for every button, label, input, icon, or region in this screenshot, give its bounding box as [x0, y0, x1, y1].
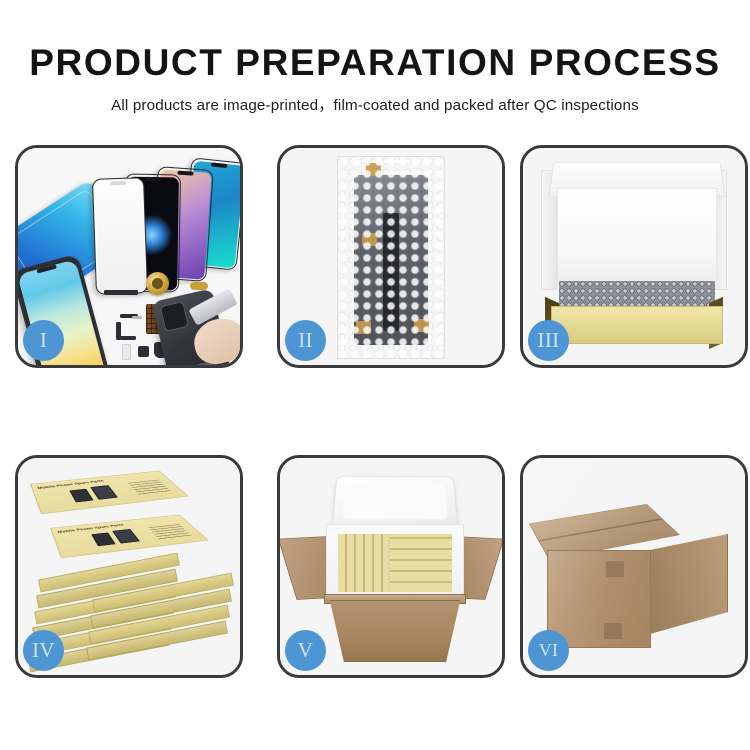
step-badge-5: V — [285, 630, 326, 671]
box-window-b-front — [112, 529, 140, 544]
step-badge-2: II — [285, 320, 326, 361]
process-step-5: V — [277, 455, 505, 678]
packed-boxes-horizontal — [390, 534, 452, 592]
tape-tab-bottom-left — [356, 321, 371, 334]
step-5-image: V — [280, 458, 502, 675]
part-strip — [104, 290, 138, 295]
part-sim-tray — [122, 344, 131, 360]
step-3-image: III — [523, 148, 745, 365]
retail-box-top-back: Mobile Phone Spare Parts — [30, 471, 189, 515]
box-spec-text-top — [127, 478, 171, 494]
tape-tab-middle — [362, 233, 377, 246]
page-subtitle: All products are image-printed，film-coat… — [0, 93, 750, 115]
packed-boxes-area — [338, 534, 452, 592]
carton-front-panel — [324, 600, 466, 662]
carton-tape-upper — [606, 561, 624, 577]
part-gold-clip — [190, 282, 208, 290]
white-foam-sheet — [557, 188, 717, 286]
box-window-a-front — [91, 533, 115, 547]
styrofoam-lid — [331, 476, 458, 528]
box-spec-text-front — [147, 523, 191, 539]
step-1-image: I — [18, 148, 240, 365]
process-step-3: III — [520, 145, 748, 368]
carton-side-face — [650, 534, 728, 634]
carton-tape-lower — [604, 623, 622, 639]
grey-bubble-pad — [559, 281, 715, 308]
step-badge-6: VI — [528, 630, 569, 671]
process-step-1: I — [15, 145, 243, 368]
part-flex-c — [120, 336, 136, 340]
part-bracket — [132, 316, 142, 319]
speaker-coil — [146, 272, 169, 295]
process-step-2: II — [277, 145, 505, 368]
box-window-a-top — [69, 489, 93, 503]
product-preparation-infographic: PRODUCT PREPARATION PROCESS All products… — [0, 0, 750, 750]
process-step-6: VI — [520, 455, 748, 678]
tape-tab-top — [366, 163, 381, 176]
step-badge-3: III — [528, 320, 569, 361]
page-title: PRODUCT PREPARATION PROCESS — [0, 42, 750, 84]
retail-box-top-front: Mobile Phone Spare Parts — [50, 515, 209, 559]
packed-boxes-vertical — [338, 534, 388, 592]
process-step-grid: I II — [15, 145, 735, 690]
process-step-4: Mobile Phone Spare Parts Mobile Phone Sp… — [15, 455, 243, 678]
box-front-panel — [551, 306, 723, 344]
header: PRODUCT PREPARATION PROCESS All products… — [0, 0, 750, 115]
step-badge-4: IV — [23, 630, 64, 671]
box-window-b-top — [90, 485, 118, 500]
carton-front-face — [547, 550, 651, 648]
wrapped-flex-cable — [383, 213, 399, 331]
step-badge-1: I — [23, 320, 64, 361]
bubble-wrap-bag — [337, 156, 445, 359]
tape-tab-bottom-right — [414, 319, 429, 332]
step-6-image: VI — [523, 458, 745, 675]
step-4-image: Mobile Phone Spare Parts Mobile Phone Sp… — [18, 458, 240, 675]
part-chip-small — [138, 346, 149, 357]
step-2-image: II — [280, 148, 502, 365]
